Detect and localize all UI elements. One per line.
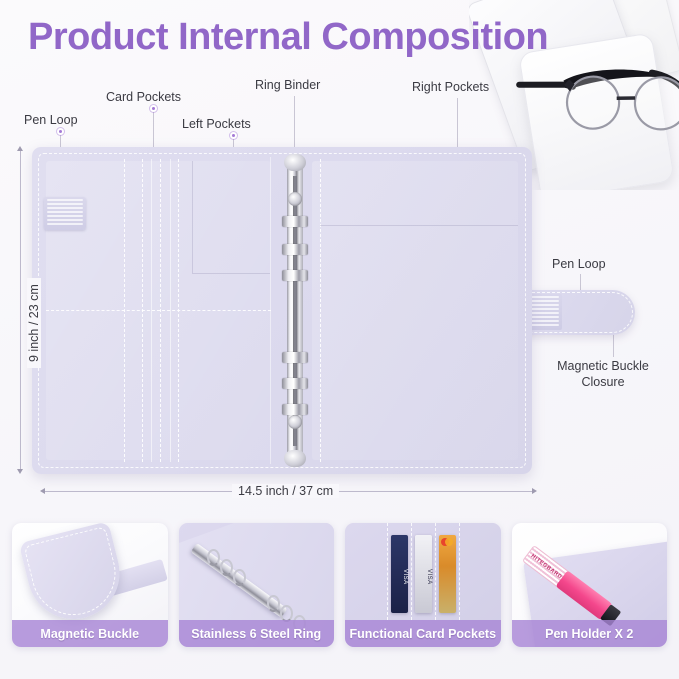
infographic-page: Product Internal Composition Pen Loop Ca…: [0, 0, 679, 679]
steel-ring-2: [220, 559, 233, 576]
right-pocket-edge-h: [320, 225, 518, 226]
leader-line-ring-binder: [294, 96, 295, 152]
feature-caption-steel-ring: Stainless 6 Steel Ring: [179, 620, 335, 647]
steel-ring-3: [233, 569, 246, 586]
ring-clasp-1: [282, 216, 308, 227]
feature-card-card-pockets[interactable]: VISA VISA Functional Card Pockets: [345, 523, 501, 647]
callout-label-right-pockets: Right Pockets: [412, 80, 489, 96]
mastercard-logo-icon: [441, 538, 453, 547]
card-pocket-seam-a: [151, 159, 152, 462]
ring-clasp-4: [282, 352, 308, 363]
dimension-label-width: 14.5 inch / 37 cm: [232, 484, 339, 498]
feature-card-steel-ring[interactable]: Stainless 6 Steel Ring: [179, 523, 335, 647]
feature-caption-card-pockets: Functional Card Pockets: [345, 620, 501, 647]
steel-ring-4: [267, 595, 280, 612]
right-page-panel: [312, 161, 518, 460]
callout-dot-pen-loop-left: [57, 128, 64, 135]
buckle-flap: [19, 523, 130, 629]
callout-label-line2: Closure: [548, 375, 658, 391]
pocket-slot-line-2: [411, 523, 412, 620]
ring-binder-mechanism: [283, 152, 307, 469]
card-slot-1: [124, 159, 125, 462]
credit-card-gold: [439, 535, 456, 613]
feature-card-row: Magnetic Buckle Stainless 6 Steel Ring: [12, 523, 667, 647]
binder-cap-bottom: [284, 450, 306, 467]
right-page-stitch-v: [320, 159, 321, 462]
callout-label-left-pockets: Left Pockets: [182, 117, 251, 133]
credit-card-white: VISA: [415, 535, 432, 613]
card-slot-3: [160, 159, 161, 462]
card-pocket-seam-b: [170, 159, 171, 462]
ring-clasp-6: [282, 404, 308, 415]
feature-caption-pen-holder: Pen Holder X 2: [512, 620, 668, 647]
feature-caption-magnetic-buckle: Magnetic Buckle: [12, 620, 168, 647]
pocket-slot-line-1: [387, 523, 388, 620]
binder-screw-top: [288, 192, 302, 206]
ring-clasp-2: [282, 244, 308, 255]
pocket-slot-line-3: [435, 523, 436, 620]
page-title: Product Internal Composition: [28, 16, 548, 59]
feature-card-magnetic-buckle[interactable]: Magnetic Buckle: [12, 523, 168, 647]
dimension-line-height: [20, 150, 21, 472]
spine-seam-left: [270, 157, 271, 464]
dimension-arrow-bottom: [17, 469, 23, 474]
binder-cap-top: [284, 154, 306, 171]
credit-card-navy: VISA: [391, 535, 408, 613]
callout-label-line1: Magnetic Buckle: [548, 359, 658, 375]
dimension-label-height: 9 inch / 23 cm: [27, 278, 41, 368]
binder-screw-bottom: [288, 415, 302, 429]
steel-ring-1: [207, 549, 220, 566]
callout-label-magnetic-buckle-closure: Magnetic Buckle Closure: [548, 359, 658, 390]
callout-dot-card-pockets: [150, 105, 157, 112]
dimension-arrow-right: [532, 488, 537, 494]
callout-dot-left-pockets: [230, 132, 237, 139]
callout-label-pen-loop-right: Pen Loop: [552, 257, 606, 273]
dimension-arrow-left: [40, 488, 45, 494]
ring-clasp-3: [282, 270, 308, 281]
dimension-arrow-top: [17, 146, 23, 151]
closure-flap: [520, 290, 635, 335]
callout-label-pen-loop-left: Pen Loop: [24, 113, 78, 129]
pocket-slot-line-4: [459, 523, 460, 620]
callout-label-card-pockets: Card Pockets: [106, 90, 181, 106]
card-slot-4: [178, 159, 179, 462]
feature-card-pen-holder[interactable]: HITEGBARD Pen Holder X 2: [512, 523, 668, 647]
card-slot-2: [142, 159, 143, 462]
left-pocket-edge-v: [192, 161, 193, 273]
planner-interior: [32, 147, 532, 474]
left-pen-loop: [44, 197, 86, 230]
ring-clasp-5: [282, 378, 308, 389]
left-pocket-divider: [46, 310, 271, 311]
left-pocket-edge-h: [192, 273, 270, 274]
callout-label-ring-binder: Ring Binder: [255, 78, 320, 94]
